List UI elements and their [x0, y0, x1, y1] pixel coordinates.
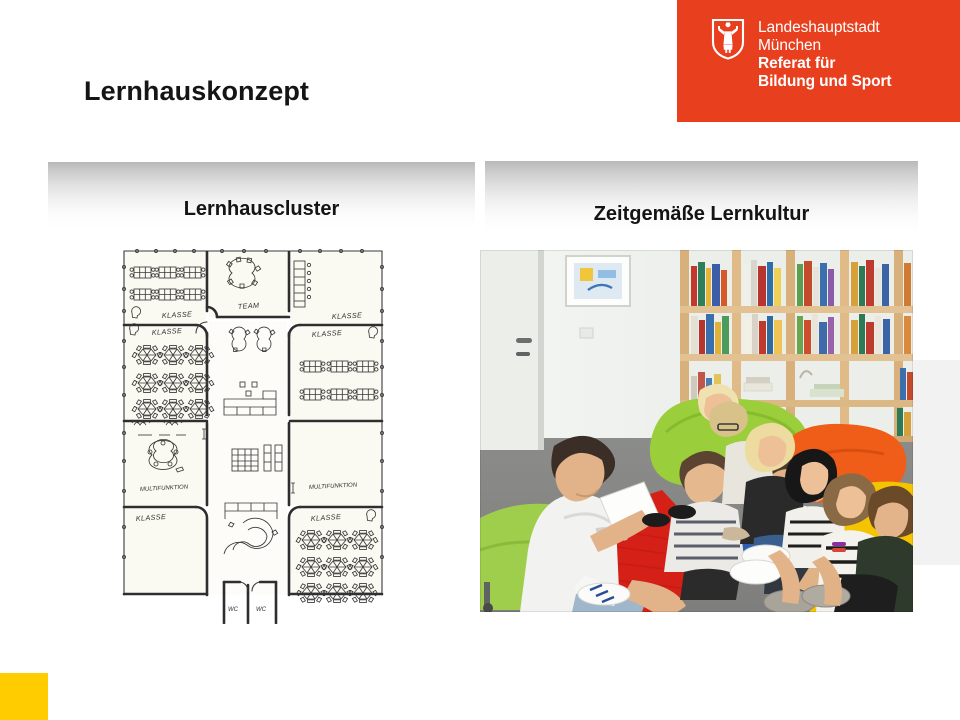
brand-line-referat: Referat für	[758, 55, 891, 73]
accent-block	[0, 673, 48, 720]
brand-line-muenchen: München	[758, 37, 891, 55]
column-header-lernhauscluster: Lernhauscluster	[48, 162, 475, 228]
column-header-label: Zeitgemäße Lernkultur	[594, 203, 810, 233]
decorative-side-panel	[913, 360, 960, 565]
column-header-zeitgemaesse-lernkultur: Zeitgemäße Lernkultur	[485, 161, 918, 233]
page-title: Lernhauskonzept	[84, 76, 309, 107]
students-lounge-photo	[480, 250, 913, 612]
room-label: KLASSE	[332, 310, 363, 321]
brand-line-bildung-und-sport: Bildung und Sport	[758, 73, 891, 91]
room-label: KLASSE	[162, 309, 193, 320]
room-label: WC	[256, 607, 267, 613]
brand-text-block: Landeshauptstadt München Referat für Bil…	[758, 18, 891, 92]
room-label: WC	[228, 607, 239, 613]
munich-coat-of-arms-icon	[711, 18, 745, 60]
brand-line-landeshauptstadt: Landeshauptstadt	[758, 19, 891, 37]
brand-banner: Landeshauptstadt München Referat für Bil…	[677, 0, 960, 122]
column-header-label: Lernhauscluster	[184, 198, 340, 228]
floorplan-sketch: .wall { fill:none; stroke:#2e2e2e; strok…	[104, 237, 416, 624]
room-label: TEAM	[238, 301, 260, 311]
